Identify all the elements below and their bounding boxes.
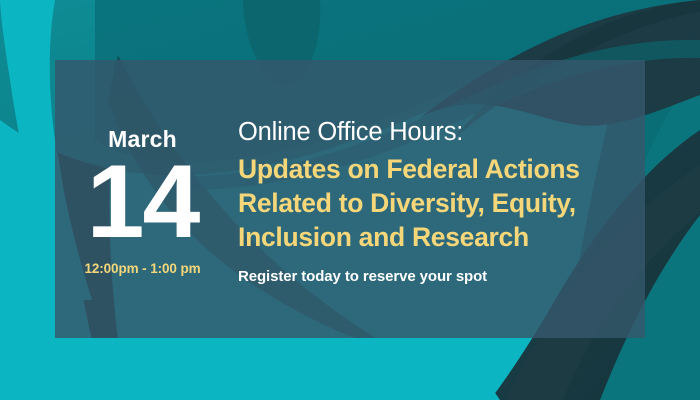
event-day: 14 <box>55 155 230 251</box>
date-block: March 14 12:00pm - 1:00 pm <box>55 122 230 276</box>
headline-line: Inclusion and Research <box>238 221 627 255</box>
event-banner: March 14 12:00pm - 1:00 pm Online Office… <box>0 0 700 400</box>
registration-cta: Register today to reserve your spot <box>238 268 627 285</box>
headline-line: Updates on Federal Actions <box>238 153 627 187</box>
event-headline: Updates on Federal Actions Related to Di… <box>238 153 627 255</box>
event-time-range: 12:00pm - 1:00 pm <box>55 261 230 276</box>
event-details: Online Office Hours: Updates on Federal … <box>230 113 645 285</box>
event-eyebrow: Online Office Hours: <box>238 117 627 148</box>
headline-line: Related to Diversity, Equity, <box>238 187 627 221</box>
banner-content: March 14 12:00pm - 1:00 pm Online Office… <box>55 60 645 338</box>
